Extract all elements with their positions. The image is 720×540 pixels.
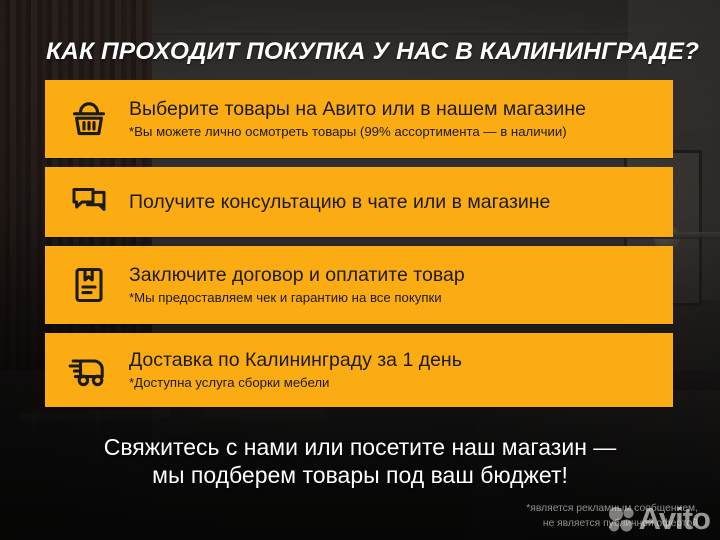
cta-line-1: Свяжитесь с нами или посетите наш магази… bbox=[0, 434, 720, 462]
step-item-delivery: Доставка по Калининграду за 1 день *Дост… bbox=[45, 333, 673, 407]
delivery-truck-icon bbox=[63, 344, 115, 396]
step-text: Получите консультацию в чате или в магаз… bbox=[129, 191, 659, 214]
chat-bubbles-icon bbox=[63, 176, 115, 228]
step-text: Заключите договор и оплатите товар *Мы п… bbox=[129, 264, 659, 307]
step-title: Заключите договор и оплатите товар bbox=[129, 264, 659, 287]
step-subtitle: *Доступна услуга сборки мебели bbox=[129, 375, 659, 392]
steps-list: Выберите товары на Авито или в нашем маг… bbox=[45, 80, 673, 407]
step-item-consultation: Получите консультацию в чате или в магаз… bbox=[45, 167, 673, 237]
avito-dots-icon bbox=[607, 506, 637, 532]
step-title: Получите консультацию в чате или в магаз… bbox=[129, 191, 659, 214]
avito-watermark: Avito bbox=[607, 503, 710, 534]
step-subtitle: *Вы можете лично осмотреть товары (99% а… bbox=[129, 124, 659, 141]
step-title: Выберите товары на Авито или в нашем маг… bbox=[129, 98, 659, 121]
banner-content: КАК ПРОХОДИТ ПОКУПКА У НАС В КАЛИНИНГРАД… bbox=[0, 0, 720, 540]
step-text: Доставка по Калининграду за 1 день *Дост… bbox=[129, 349, 659, 392]
cta-line-2: мы подберем товары под ваш бюджет! bbox=[0, 462, 720, 490]
step-text: Выберите товары на Авито или в нашем маг… bbox=[129, 98, 659, 141]
promo-banner: КАК ПРОХОДИТ ПОКУПКА У НАС В КАЛИНИНГРАД… bbox=[0, 0, 720, 540]
shopping-basket-icon bbox=[63, 93, 115, 145]
step-item-contract-payment: Заключите договор и оплатите товар *Мы п… bbox=[45, 246, 673, 324]
page-title: КАК ПРОХОДИТ ПОКУПКА У НАС В КАЛИНИНГРАД… bbox=[46, 38, 686, 66]
step-item-choose-products: Выберите товары на Авито или в нашем маг… bbox=[45, 80, 673, 158]
call-to-action: Свяжитесь с нами или посетите наш магази… bbox=[0, 434, 720, 489]
avito-wordmark: Avito bbox=[639, 503, 710, 534]
contract-document-icon bbox=[63, 259, 115, 311]
step-title: Доставка по Калининграду за 1 день bbox=[129, 349, 659, 372]
step-subtitle: *Мы предоставляем чек и гарантию на все … bbox=[129, 290, 659, 307]
